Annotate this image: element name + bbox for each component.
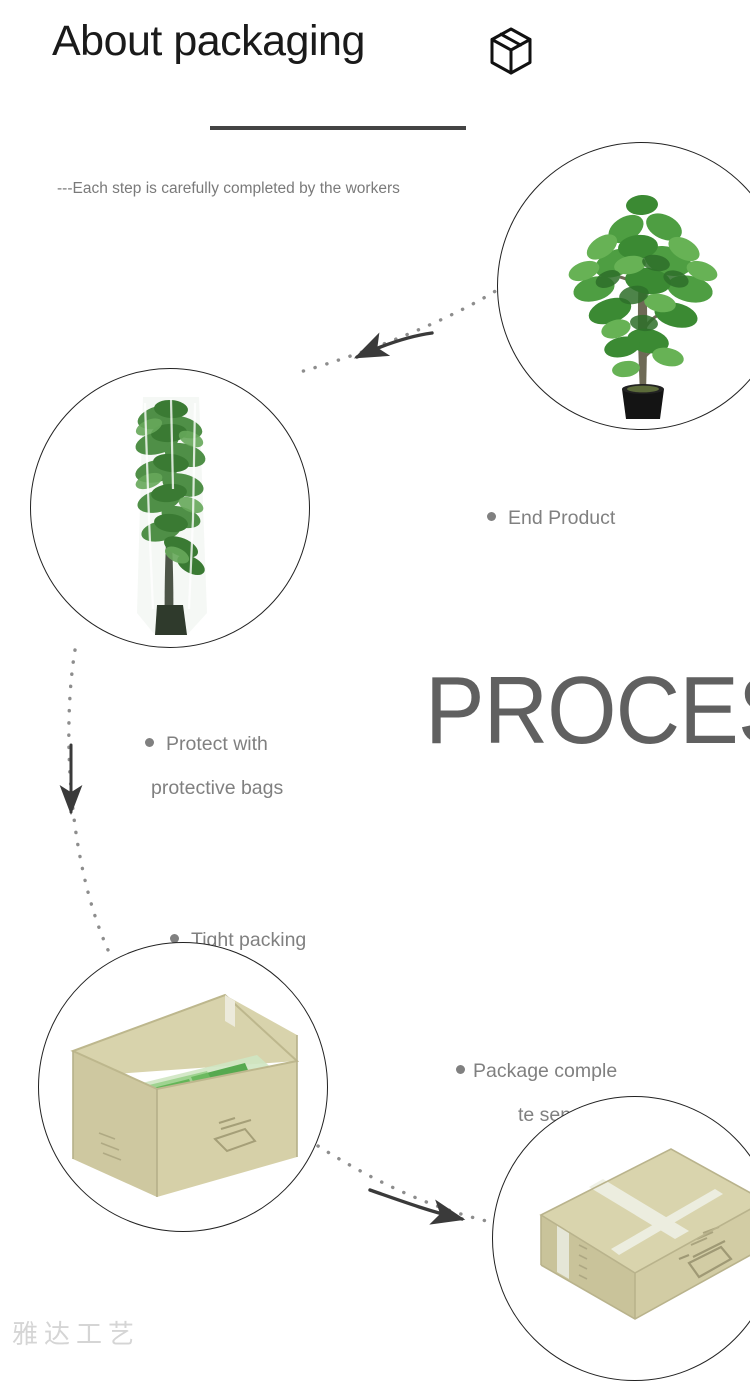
bullet-icon bbox=[487, 512, 496, 521]
watermark: 雅达工艺 bbox=[12, 1314, 140, 1351]
step-label-line2: protective bags bbox=[151, 766, 405, 810]
bullet-icon bbox=[456, 1065, 465, 1074]
bullet-icon bbox=[145, 738, 154, 747]
sealed-taped-carton-box bbox=[493, 1097, 750, 1380]
plant-wrapped-in-clear-bag bbox=[31, 369, 309, 647]
arrow-3 bbox=[370, 1190, 462, 1219]
step-label-protective-bags: Protect with protective bags bbox=[145, 678, 405, 854]
process-heading: PROCESS bbox=[425, 663, 750, 759]
page-title: About packaging bbox=[52, 17, 365, 66]
step-circle-tight-packing bbox=[38, 942, 328, 1232]
package-box-icon bbox=[489, 27, 533, 75]
step-label-end-product: End Product bbox=[487, 452, 727, 540]
packaging-process-infographic: About packaging ---Each step is carefull… bbox=[0, 0, 750, 1381]
step-circle-protective-bags bbox=[30, 368, 310, 648]
arrow-1 bbox=[357, 333, 432, 357]
dotted-path-2 bbox=[69, 650, 108, 950]
step-circle-package-complete bbox=[492, 1096, 750, 1381]
step-label-line1: Protect with bbox=[166, 733, 268, 755]
open-carton-box-with-wrapped-plants bbox=[39, 943, 327, 1231]
page-subtitle: ---Each step is carefully completed by t… bbox=[57, 180, 400, 198]
potted-fiddle-leaf-fig-plant bbox=[498, 143, 750, 429]
step-circle-end-product bbox=[497, 142, 750, 430]
dotted-path-1 bbox=[300, 285, 505, 372]
step-label-line1: End Product bbox=[508, 507, 615, 529]
title-divider bbox=[210, 126, 466, 130]
step-label-line1: Package comple bbox=[473, 1060, 617, 1082]
